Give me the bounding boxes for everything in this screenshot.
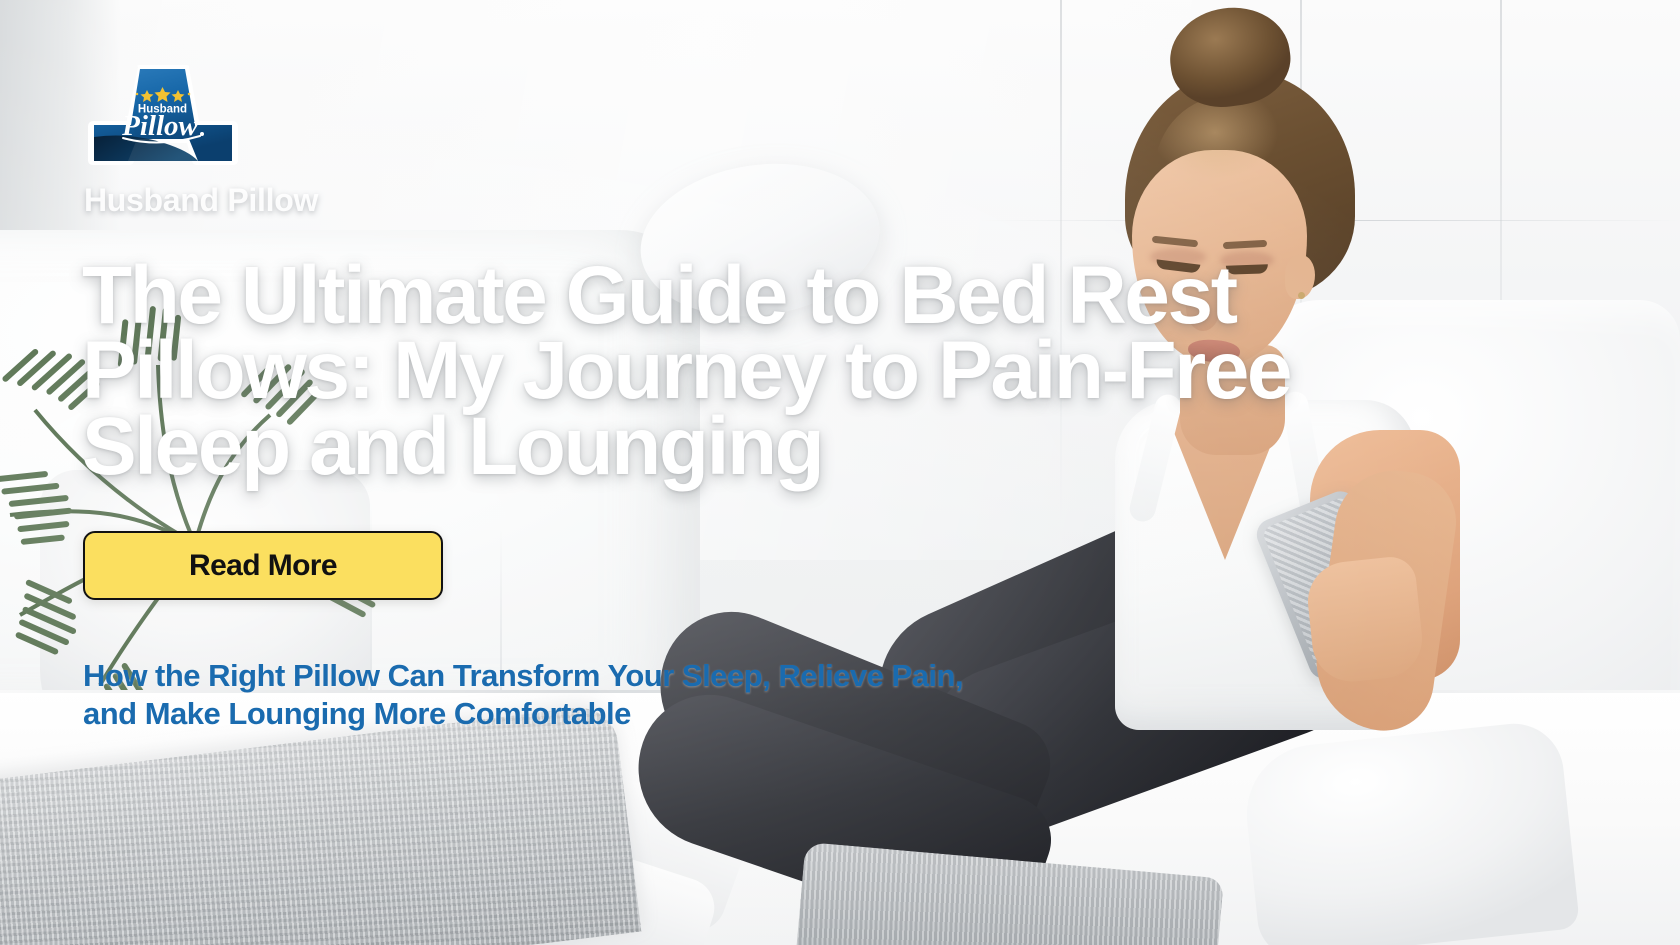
hero-banner: Husband Pillow Husband Pillow The Ultima…: [0, 0, 1680, 945]
page-title: The Ultimate Guide to Bed Rest Pillows: …: [82, 258, 1312, 484]
brand-name: Husband Pillow: [84, 182, 318, 219]
page-subtitle: How the Right Pillow Can Transform Your …: [83, 657, 988, 733]
read-more-button[interactable]: Read More: [83, 531, 443, 600]
svg-text:Pillow: Pillow: [121, 110, 198, 142]
brand-lockup[interactable]: Husband Pillow Husband Pillow: [84, 62, 318, 219]
logo-pillow-script: Pillow: [121, 110, 204, 143]
read-more-button-label: Read More: [189, 549, 337, 583]
husband-pillow-logo-icon[interactable]: Husband Pillow: [84, 62, 242, 172]
hero-content: Husband Pillow Husband Pillow The Ultima…: [0, 0, 1680, 945]
